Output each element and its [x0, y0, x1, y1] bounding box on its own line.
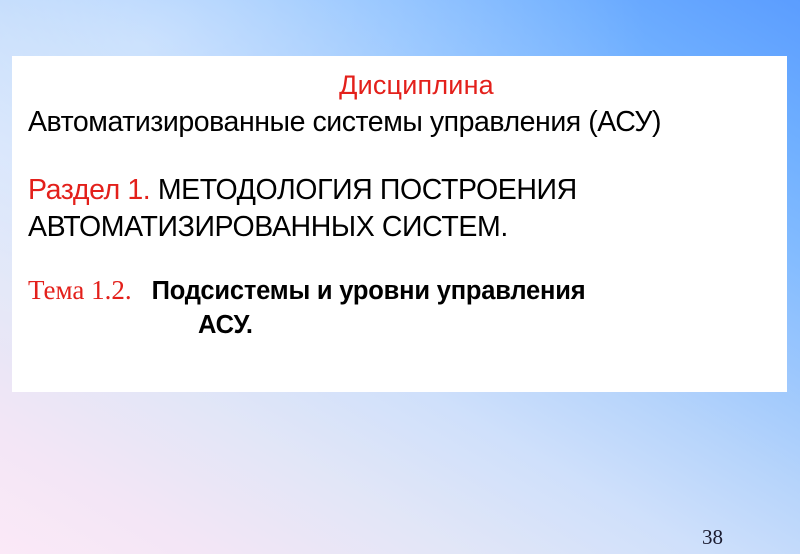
content-box: Дисциплина Автоматизированные системы уп… — [12, 56, 787, 392]
topic-label: Тема 1.2. — [28, 275, 132, 305]
discipline-name: Автоматизированные системы управления (А… — [20, 108, 773, 137]
spacer-after-section — [20, 242, 773, 277]
discipline-heading: Дисциплина — [20, 72, 773, 99]
topic-title-line2: АСУ. — [20, 313, 773, 339]
page-number: 38 — [702, 527, 723, 548]
slide: Дисциплина Автоматизированные системы уп… — [0, 0, 800, 554]
topic-heading-line1: Тема 1.2.Подсистемы и уровни управления — [20, 277, 773, 305]
section-title-line2: АВТОМАТИЗИРОВАННЫХ СИСТЕМ. — [20, 213, 773, 242]
topic-title-line1: Подсистемы и уровни управления — [132, 277, 586, 305]
section-heading-line1: Раздел 1. МЕТОДОЛОГИЯ ПОСТРОЕНИЯ — [20, 176, 773, 205]
spacer-after-discipline — [20, 137, 773, 176]
section-label: Раздел 1. — [28, 174, 150, 206]
section-title-part1-space — [150, 174, 158, 206]
section-title-line1: МЕТОДОЛОГИЯ ПОСТРОЕНИЯ — [158, 174, 577, 206]
